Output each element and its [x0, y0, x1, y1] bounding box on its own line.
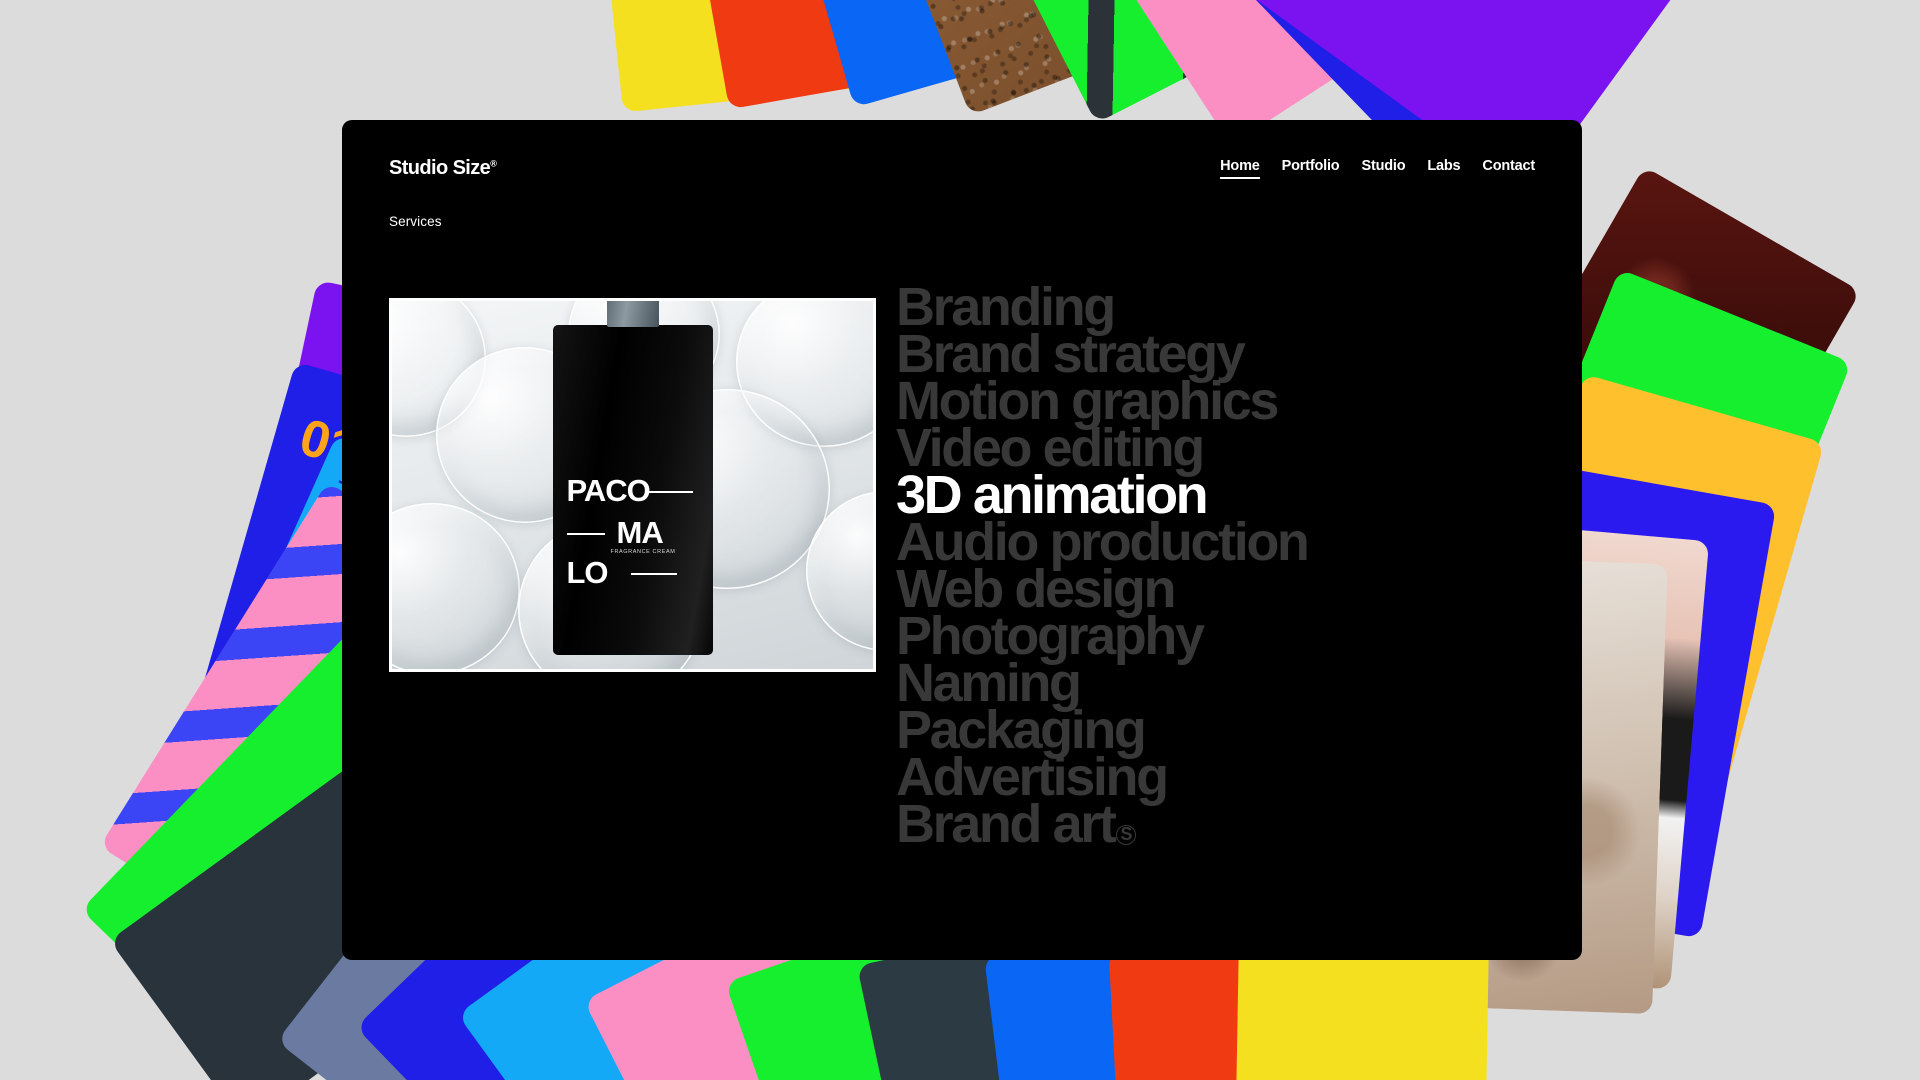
main-panel: Studio Size® HomePortfolioStudioLabsCont… [342, 120, 1582, 960]
nav-link-studio[interactable]: Studio [1361, 158, 1405, 179]
service-item-label: Brand art [896, 794, 1114, 854]
bottle-label-line-1: PACO [567, 475, 650, 506]
product-bottle: PACO MA FRAGRANCE CREAM LO [553, 325, 713, 655]
bottle-rule [649, 491, 693, 493]
main-nav: HomePortfolioStudioLabsContact [1220, 158, 1535, 179]
bottle-rule [567, 533, 605, 535]
service-item-brand-art[interactable]: Brand artS [896, 801, 1542, 848]
panel-header: Studio Size® HomePortfolioStudioLabsCont… [389, 148, 1535, 188]
product-render-image: PACO MA FRAGRANCE CREAM LO [392, 301, 873, 669]
brand-registered-mark: ® [490, 158, 497, 168]
brand-logo-text: Studio Size [389, 157, 490, 179]
service-registered-mark-icon: S [1116, 825, 1136, 845]
media-frame[interactable]: PACO MA FRAGRANCE CREAM LO [389, 298, 876, 672]
nav-link-home[interactable]: Home [1220, 158, 1260, 179]
nav-link-contact[interactable]: Contact [1482, 158, 1535, 179]
services-list: BrandingBrand strategyMotion graphicsVid… [896, 284, 1542, 848]
bottle-rule [631, 573, 677, 575]
bubble-decor [392, 503, 520, 669]
bottle-label-line-3: LO [567, 557, 608, 588]
nav-link-labs[interactable]: Labs [1427, 158, 1460, 179]
card-yellow-bottom [1231, 943, 1489, 1080]
app-root: 01STUDIOSize Studio Size® HomePortfolioS… [0, 0, 1920, 1080]
section-label: Services [389, 214, 442, 229]
bottle-fine-print: FRAGRANCE CREAM [611, 549, 676, 555]
nav-link-portfolio[interactable]: Portfolio [1282, 158, 1340, 179]
bottle-neck [607, 301, 659, 327]
brand-logo[interactable]: Studio Size® [389, 158, 497, 178]
bottle-label-line-2: MA [617, 517, 663, 548]
